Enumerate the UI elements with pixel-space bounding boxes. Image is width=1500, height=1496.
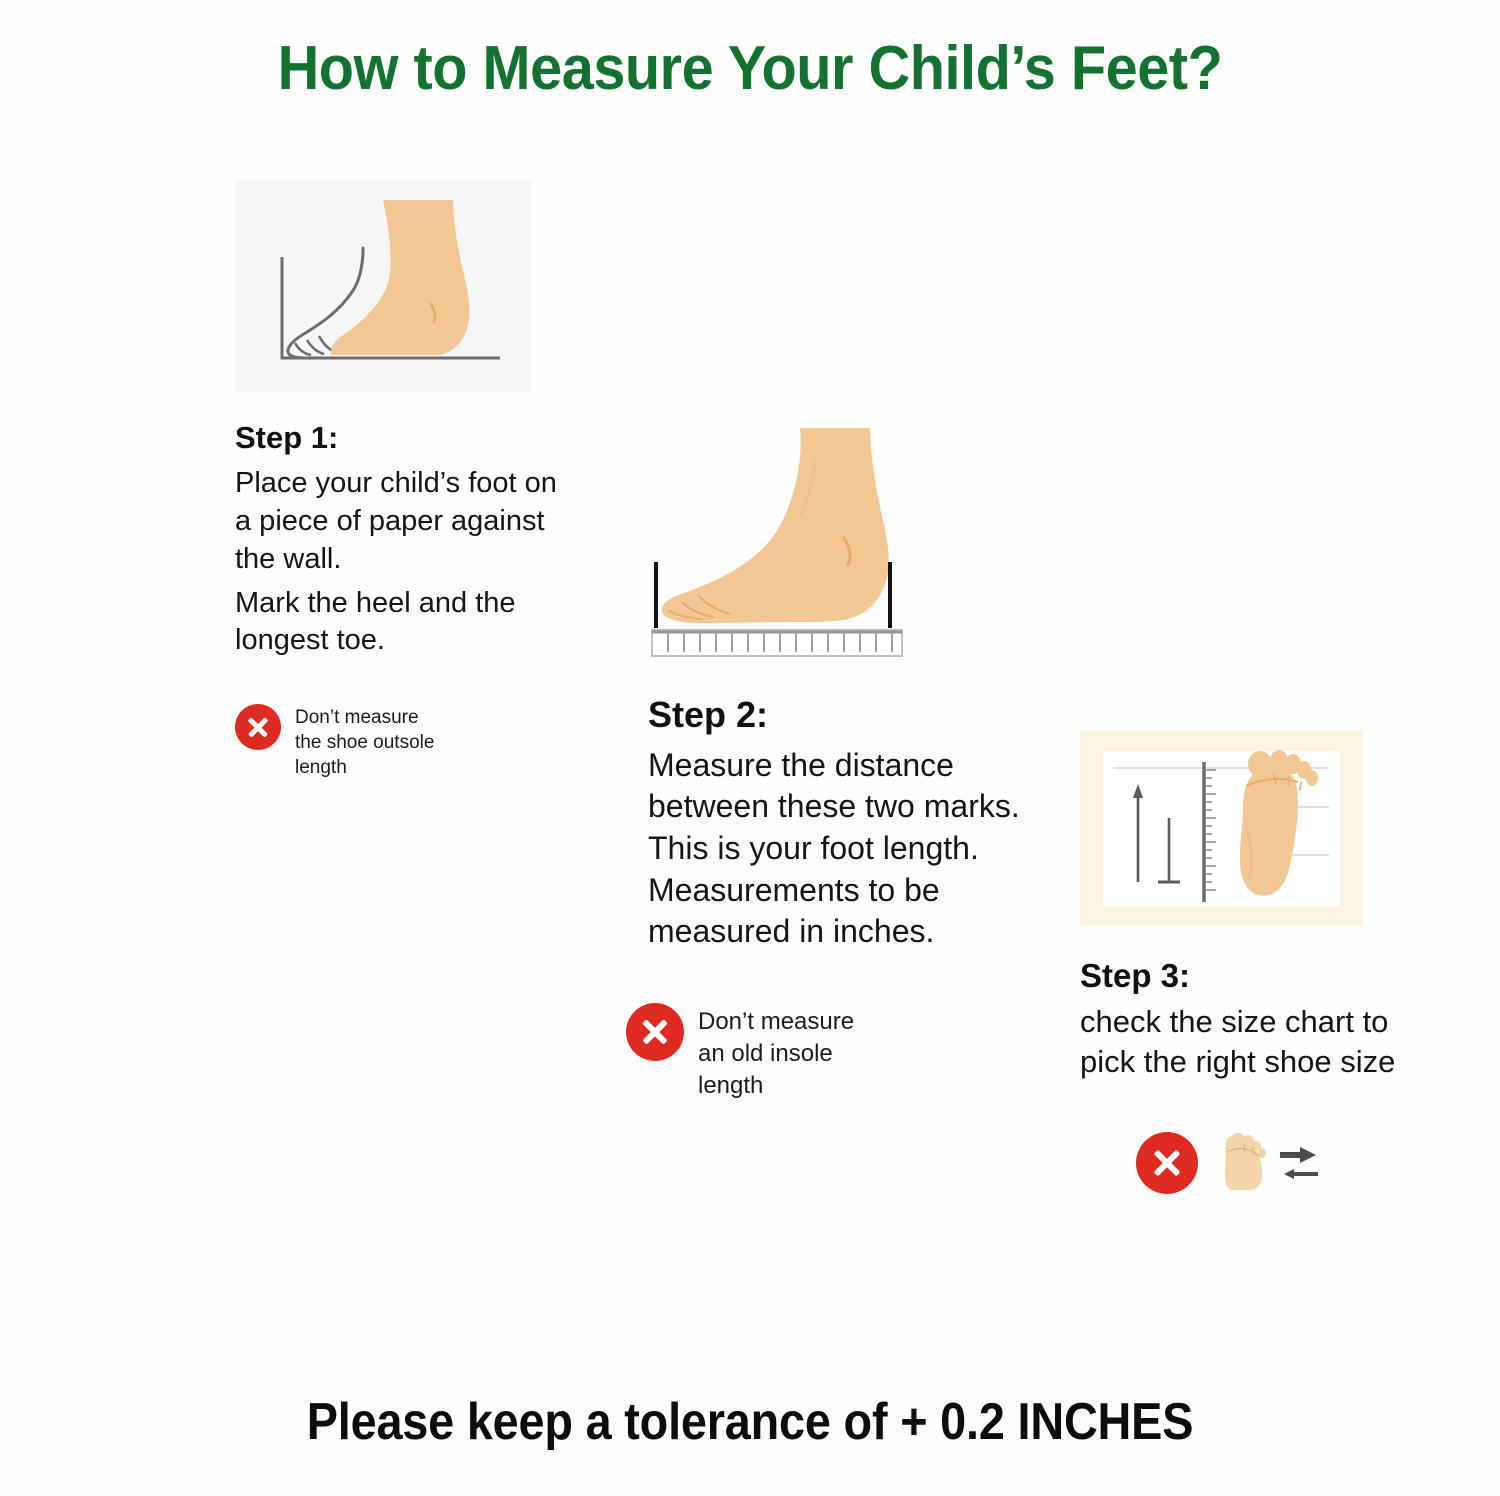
arrow-right-icon [1280, 1147, 1316, 1163]
page-title: How to Measure Your Child’s Feet? [53, 33, 1448, 104]
arrows-icon [1278, 1137, 1320, 1189]
step-3-line-1: check the size chart to pick the right s… [1080, 1002, 1430, 1083]
step-3-column: Step 3: check the size chart to pick the… [1080, 730, 1430, 1194]
warning-line: Don’t measure [698, 1006, 854, 1038]
step-2-warning: Don’t measure an old insole length [626, 1003, 1078, 1102]
red-x-circle-icon [626, 1003, 684, 1061]
tolerance-note: Please keep a tolerance of + 0.2 INCHES [75, 1392, 1425, 1452]
foot-with-ruler-svg [648, 420, 948, 660]
step-1-warning: Don’t measure the shoe outsole length [235, 702, 565, 781]
step-2-body: Measure the distance between these two m… [648, 745, 1078, 953]
warning-line: an old insole [698, 1038, 854, 1070]
step-1-line-2: Mark the heel and the longest toe. [235, 585, 565, 660]
step-2-illustration [648, 420, 948, 660]
step-1-warning-text: Don’t measure the shoe outsole length [295, 702, 434, 781]
step-2-column: Step 2: Measure the distance between the… [648, 420, 1078, 1102]
red-x-circle-icon [1136, 1132, 1198, 1194]
foot-against-wall-svg [235, 180, 531, 392]
step-3-warning [1136, 1132, 1430, 1194]
footprint-with-ruler-svg [1080, 730, 1363, 926]
step-1-illustration [235, 180, 531, 392]
warning-line: length [295, 755, 434, 780]
red-x-circle-icon [235, 704, 281, 750]
step-1-body: Place your child’s foot on a piece of pa… [235, 465, 565, 659]
step-1-column: Step 1: Place your child’s foot on a pie… [235, 180, 565, 781]
step-3-body: check the size chart to pick the right s… [1080, 1002, 1430, 1083]
step-3-illustration [1080, 730, 1363, 926]
step-3-warning-illustration [1212, 1132, 1320, 1194]
toe-mark [654, 562, 658, 628]
step-1-title: Step 1: [235, 421, 565, 454]
warning-line: length [698, 1070, 854, 1102]
warning-line: Don’t measure [295, 705, 434, 730]
step-2-title: Step 2: [648, 696, 1078, 735]
heel-mark [888, 562, 892, 628]
arrow-left-icon [1284, 1169, 1318, 1179]
step-3-title: Step 3: [1080, 958, 1430, 994]
footprint-icon [1212, 1132, 1272, 1194]
step-1-line-1: Place your child’s foot on a piece of pa… [235, 465, 565, 578]
warning-line: the shoe outsole [295, 730, 434, 755]
step-2-line-1: Measure the distance between these two m… [648, 745, 1078, 953]
step-2-warning-text: Don’t measure an old insole length [698, 1003, 854, 1102]
